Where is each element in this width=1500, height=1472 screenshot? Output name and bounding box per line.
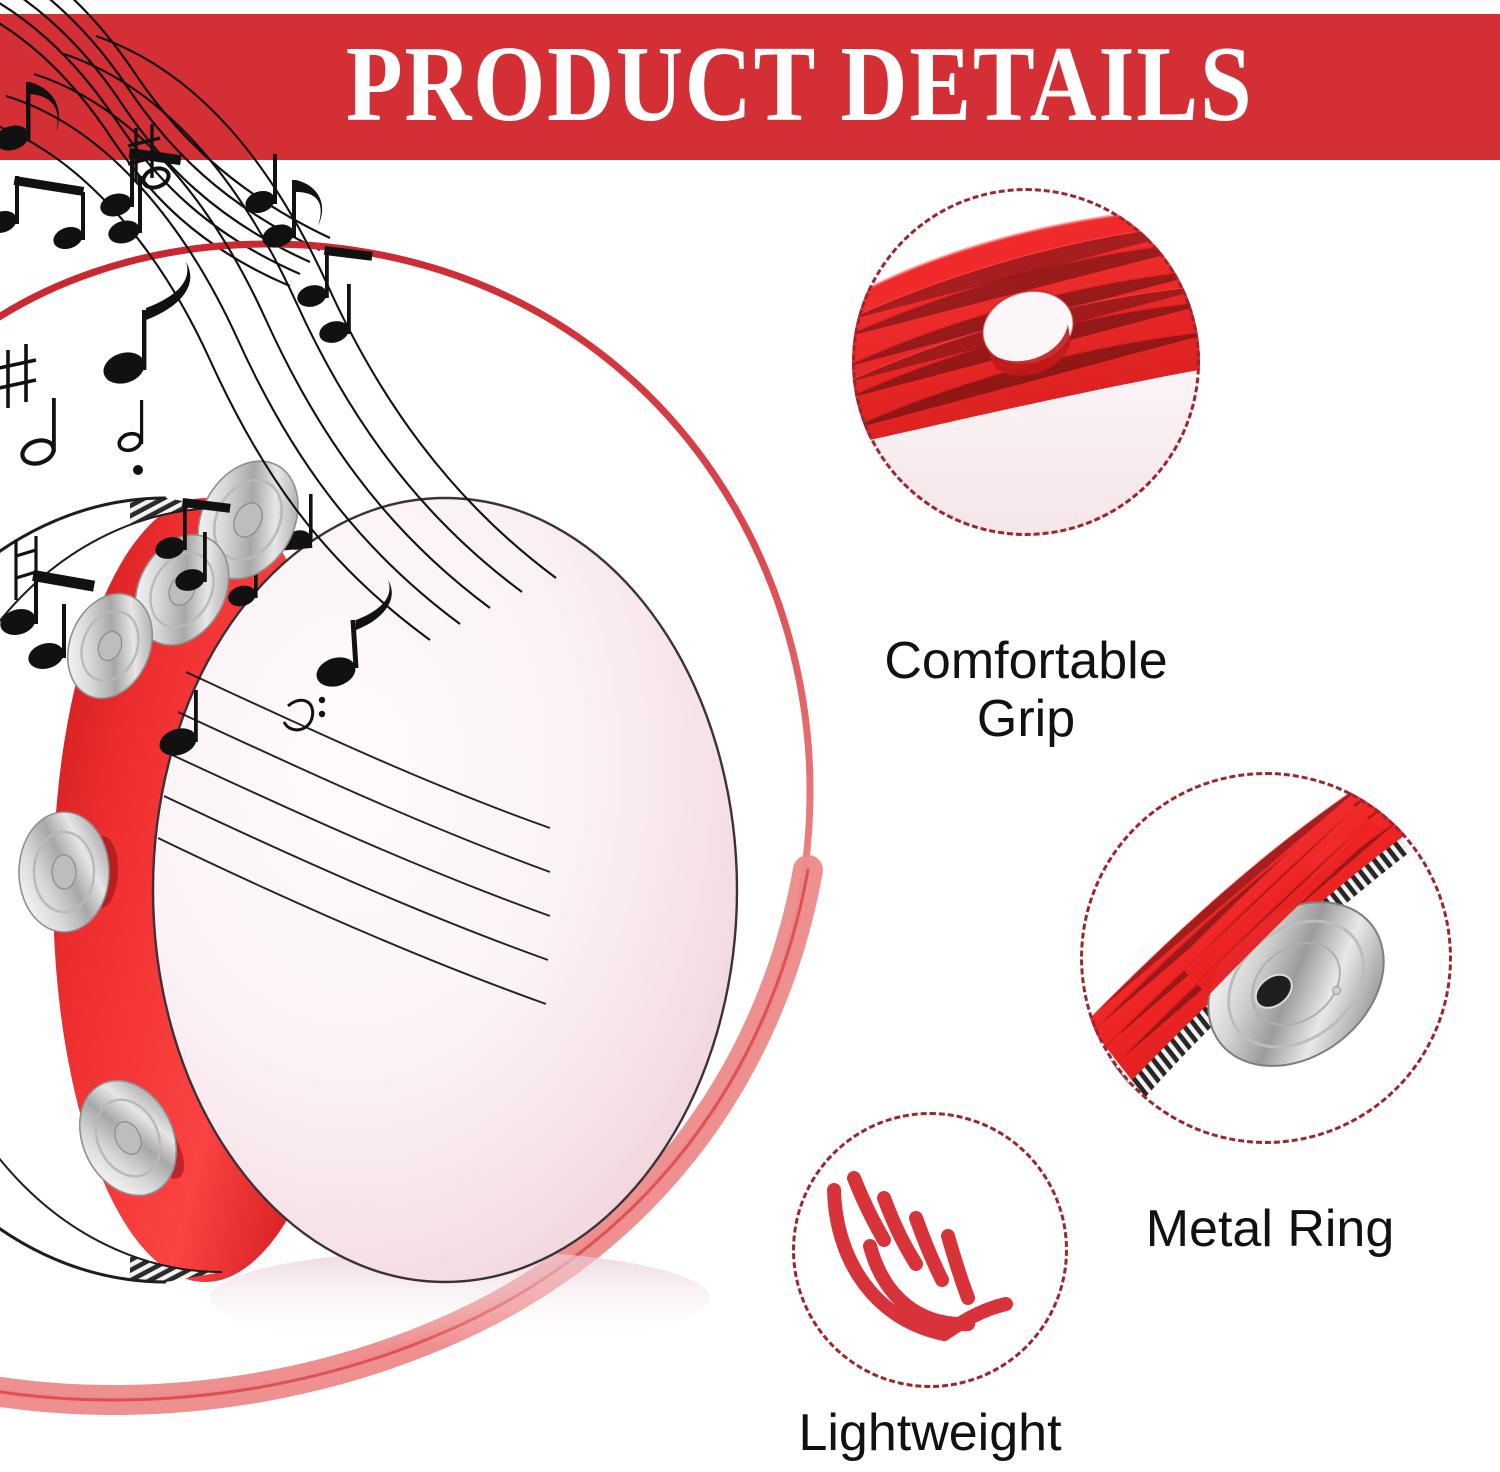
callout-dashed-border <box>792 1112 1068 1388</box>
callout-metal-ring <box>1080 772 1452 1144</box>
callout-label-metal-ring: Metal Ring <box>1060 1200 1480 1258</box>
page-title-text: PRODUCT DETAILS <box>346 31 1253 139</box>
callout-label-comfortable-grip: Comfortable Grip <box>800 632 1252 748</box>
callout-comfortable-grip <box>852 188 1200 536</box>
callout-dashed-border <box>1080 772 1452 1144</box>
product-details-page: PRODUCT DETAILS <box>0 0 1500 1472</box>
callout-lightweight <box>792 1112 1068 1388</box>
callout-label-lightweight: Lightweight <box>700 1404 1160 1462</box>
tambourine-product-image <box>0 420 850 1360</box>
header-banner: PRODUCT DETAILS <box>0 14 1500 160</box>
callout-dashed-border <box>852 188 1200 536</box>
page-title: PRODUCT DETAILS <box>0 31 1500 139</box>
